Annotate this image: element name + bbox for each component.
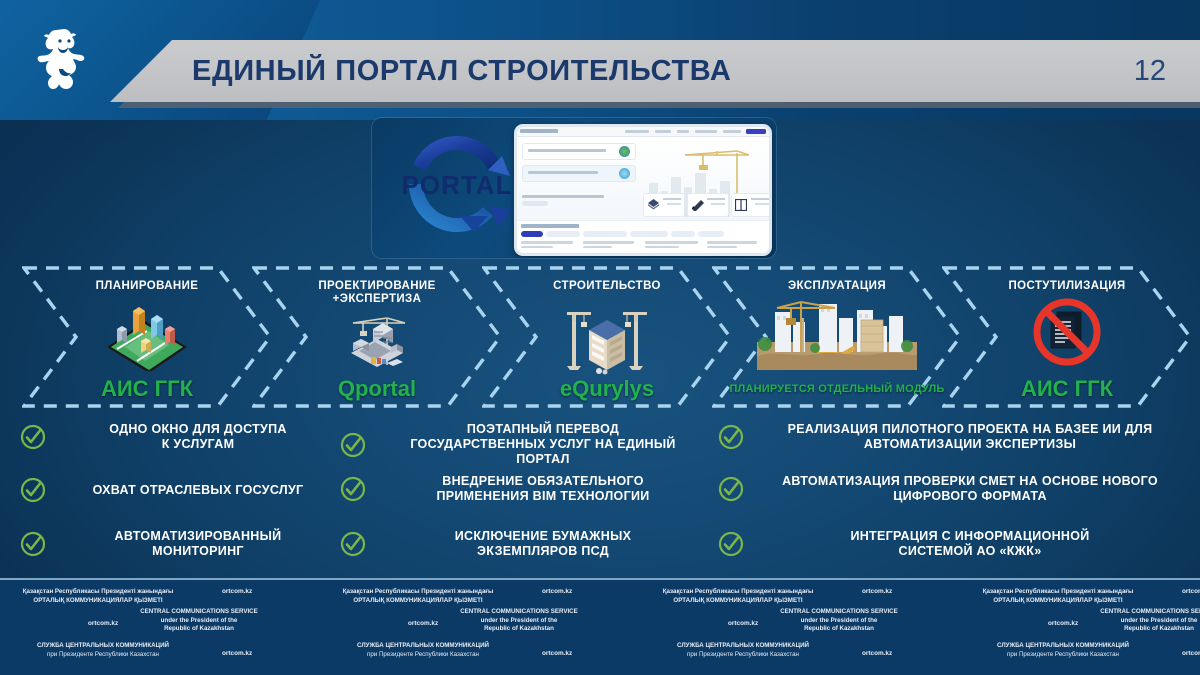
footer-url[interactable]: ortcom.kz <box>1048 620 1078 627</box>
list-item[interactable]: РЕАЛИЗАЦИЯ ПИЛОТНОГО ПРОЕКТА НА БАЗЕЕ ИИ… <box>718 422 1186 452</box>
footer-kz-name: Қазақстан Республикасы Президенті жанынд… <box>0 588 198 605</box>
city-construction-photo-icon <box>757 296 917 370</box>
mock-tab <box>630 231 668 237</box>
check-circle-icon <box>20 477 46 503</box>
building-cranes-icon <box>559 302 655 376</box>
mock-bottom-section <box>517 220 769 253</box>
list-item[interactable]: ОХВАТ ОТРАСЛЕВЫХ ГОСУСЛУГ <box>20 477 340 503</box>
mock-nav-item <box>695 130 717 133</box>
no-paper-documents-icon <box>1019 296 1115 368</box>
mock-tab <box>546 231 580 237</box>
footer-ru-name: СЛУЖБА ЦЕНТРАЛЬНЫХ КОММУНИКАЦИЙ при През… <box>638 642 848 659</box>
footer-url[interactable]: ortcom.kz <box>222 650 252 657</box>
footer-kz-name: Қазақстан Республикасы Президенті жанынд… <box>958 588 1158 605</box>
footer-kz-name: Қазақстан Республикасы Президенті жанынд… <box>638 588 838 605</box>
header-band: ЕДИНЫЙ ПОРТАЛ СТРОИТЕЛЬСТВА 12 <box>0 0 1200 120</box>
tablet-screen <box>517 127 769 253</box>
stage-chevron-row: ПЛАНИРОВАНИЕ <box>0 266 1200 408</box>
footer-ru-name: СЛУЖБА ЦЕНТРАЛЬНЫХ КОММУНИКАЦИЙ при През… <box>958 642 1168 659</box>
footer-org-block: Қазақстан Республикасы Президенті жанынд… <box>312 580 632 675</box>
stage-item-postutilizaciya[interactable]: ПОСТУТИЛИЗАЦИЯ АИС ГГК <box>942 266 1192 408</box>
check-circle-icon <box>340 476 366 502</box>
footer-en-name: CENTRAL COMMUNICATIONS SERVICE under the… <box>744 608 934 634</box>
list-item-label: ОХВАТ ОТРАСЛЕВЫХ ГОСУСЛУГ <box>56 483 340 498</box>
mock-login-button <box>746 129 766 134</box>
svg-text:PORTAL: PORTAL <box>402 170 513 200</box>
footer-en-name: CENTRAL COMMUNICATIONS SERVICE under the… <box>1064 608 1200 634</box>
construction-site-design-icon <box>329 306 425 378</box>
list-item-label: АВТОМАТИЗИРОВАННЫЙ МОНИТОРИНГ <box>56 529 340 559</box>
list-item[interactable]: ОДНО ОКНО ДЛЯ ДОСТУПА К УСЛУГАМ <box>20 422 340 452</box>
list-item-label: РЕАЛИЗАЦИЯ ПИЛОТНОГО ПРОЕКТА НА БАЗЕЕ ИИ… <box>754 422 1186 452</box>
city-map-tablet-icon <box>99 300 195 372</box>
footer-en-name: CENTRAL COMMUNICATIONS SERVICE under the… <box>424 608 614 634</box>
mock-service-row <box>522 195 634 206</box>
list-item[interactable]: ИНТЕГРАЦИЯ С ИНФОРМАЦИОННОЙ СИСТЕМОЙ АО … <box>718 529 1186 559</box>
check-circle-icon <box>340 531 366 557</box>
stage-label: eQurylys <box>482 377 732 400</box>
snow-leopard-emblem-icon <box>28 24 102 106</box>
stage-item-stroitelstvo[interactable]: СТРОИТЕЛЬСТВО <box>482 266 732 408</box>
stage-title: СТРОИТЕЛЬСТВО <box>482 280 732 293</box>
mock-nav-item <box>655 130 671 133</box>
footer-url[interactable]: ortcom.kz <box>542 588 572 595</box>
check-circle-icon <box>20 531 46 557</box>
tablet-mockup <box>514 124 772 256</box>
stage-label: АИС ГГК <box>22 377 272 400</box>
stage-title: ПЛАНИРОВАНИЕ <box>22 280 272 293</box>
check-circle-icon <box>718 476 744 502</box>
footer-url[interactable]: ortcom.kz <box>222 588 252 595</box>
slide-canvas: ЕДИНЫЙ ПОРТАЛ СТРОИТЕЛЬСТВА 12 <box>0 0 1200 675</box>
stage-label: ПЛАНИРУЕТСЯ ОТДЕЛЬНЫЙ МОДУЛЬ <box>712 383 962 396</box>
check-circle-icon <box>20 424 46 450</box>
footer-url[interactable]: ortcom.kz <box>1182 650 1200 657</box>
hero-banner: PORTAL <box>372 118 776 258</box>
list-item-label: ИСКЛЮЧЕНИЕ БУМАЖНЫХ ЭКЗЕМПЛЯРОВ ПСД <box>376 529 710 559</box>
mock-column <box>707 241 765 250</box>
mock-tab <box>698 231 724 237</box>
footer-url[interactable]: ortcom.kz <box>862 588 892 595</box>
mock-tab-strip <box>521 231 765 237</box>
footer-url[interactable]: ortcom.kz <box>728 620 758 627</box>
page-title: ЕДИНЫЙ ПОРТАЛ СТРОИТЕЛЬСТВА <box>192 40 731 102</box>
stage-title: ЭКСПЛУАТАЦИЯ <box>712 280 962 293</box>
header-plate: ЕДИНЫЙ ПОРТАЛ СТРОИТЕЛЬСТВА 12 <box>110 40 1200 102</box>
mock-nav-item <box>677 130 689 133</box>
footer-ru-name: СЛУЖБА ЦЕНТРАЛЬНЫХ КОММУНИКАЦИЙ при През… <box>0 642 208 659</box>
mock-feature-card <box>731 193 769 217</box>
footer-kz-name: Қазақстан Республикасы Президенті жанынд… <box>318 588 518 605</box>
footer-url[interactable]: ortcom.kz <box>862 650 892 657</box>
footer-org-block: Қазақстан Республикасы Президенті жанынд… <box>952 580 1200 675</box>
portal-logo-icon: PORTAL <box>382 122 532 254</box>
mock-column <box>521 241 579 250</box>
benefits-checklist: ОДНО ОКНО ДЛЯ ДОСТУПА К УСЛУГАМ ПОЭТАПНЫ… <box>0 412 1200 574</box>
list-item-label: ПОЭТАПНЫЙ ПЕРЕВОД ГОСУДАРСТВЕННЫХ УСЛУГ … <box>376 422 710 467</box>
stage-item-ekspluataciya[interactable]: ЭКСПЛУАТАЦИЯ <box>712 266 962 408</box>
mock-tab <box>671 231 695 237</box>
stage-title: ПРОЕКТИРОВАНИЕ +ЭКСПЕРТИЗА <box>252 280 502 306</box>
stage-item-proektirovanie[interactable]: ПРОЕКТИРОВАНИЕ +ЭКСПЕРТИЗА <box>252 266 502 408</box>
stage-title: ПОСТУТИЛИЗАЦИЯ <box>942 280 1192 293</box>
mock-body <box>517 137 769 220</box>
footer-org-block: Қазақстан Республикасы Президенті жанынд… <box>632 580 952 675</box>
stage-item-planirovanie[interactable]: ПЛАНИРОВАНИЕ <box>22 266 272 408</box>
footer-org-block: Қазақстан Республикасы Президенті жанынд… <box>0 580 312 675</box>
stage-label: АИС ГГК <box>942 377 1192 400</box>
list-item-label: АВТОМАТИЗАЦИЯ ПРОВЕРКИ СМЕТ НА ОСНОВЕ НО… <box>754 474 1186 504</box>
mock-column <box>583 241 641 250</box>
mock-nav-item <box>625 130 649 133</box>
footer-url[interactable]: ortcom.kz <box>1182 588 1200 595</box>
list-item[interactable]: ИСКЛЮЧЕНИЕ БУМАЖНЫХ ЭКЗЕМПЛЯРОВ ПСД <box>340 529 710 559</box>
footer-ticker: Қазақстан Республикасы Президенті жанынд… <box>0 578 1200 675</box>
footer-en-name: CENTRAL COMMUNICATIONS SERVICE under the… <box>104 608 294 634</box>
mock-tab <box>583 231 627 237</box>
mock-column <box>645 241 703 250</box>
mock-topbar <box>517 127 769 137</box>
list-item[interactable]: ПОЭТАПНЫЙ ПЕРЕВОД ГОСУДАРСТВЕННЫХ УСЛУГ … <box>340 422 710 467</box>
mock-feature-card <box>687 193 729 217</box>
mock-column-list <box>521 241 765 250</box>
stage-label: Qportal <box>252 377 502 400</box>
mock-nav-item <box>723 130 741 133</box>
list-item-label: ВНЕДРЕНИЕ ОБЯЗАТЕЛЬНОГО ПРИМЕНЕНИЯ BIM Т… <box>376 474 710 504</box>
mock-service-card <box>522 143 636 160</box>
mock-tab <box>521 231 543 237</box>
list-item[interactable]: АВТОМАТИЗАЦИЯ ПРОВЕРКИ СМЕТ НА ОСНОВЕ НО… <box>718 474 1186 504</box>
list-item[interactable]: АВТОМАТИЗИРОВАННЫЙ МОНИТОРИНГ <box>20 529 340 559</box>
mock-site-logo <box>520 129 558 133</box>
list-item[interactable]: ВНЕДРЕНИЕ ОБЯЗАТЕЛЬНОГО ПРИМЕНЕНИЯ BIM Т… <box>340 474 710 504</box>
footer-ru-name: СЛУЖБА ЦЕНТРАЛЬНЫХ КОММУНИКАЦИЙ при През… <box>318 642 528 659</box>
mock-section-title <box>521 224 579 228</box>
list-item-label: ИНТЕГРАЦИЯ С ИНФОРМАЦИОННОЙ СИСТЕМОЙ АО … <box>754 529 1186 559</box>
footer-url[interactable]: ortcom.kz <box>542 650 572 657</box>
mock-feature-card <box>643 193 685 217</box>
footer-url[interactable]: ortcom.kz <box>408 620 438 627</box>
check-circle-icon <box>340 432 366 458</box>
page-number: 12 <box>1134 40 1166 102</box>
footer-url[interactable]: ortcom.kz <box>88 620 118 627</box>
check-circle-icon <box>718 424 744 450</box>
check-circle-icon <box>718 531 744 557</box>
mock-service-card <box>522 165 636 182</box>
list-item-label: ОДНО ОКНО ДЛЯ ДОСТУПА К УСЛУГАМ <box>56 422 340 452</box>
